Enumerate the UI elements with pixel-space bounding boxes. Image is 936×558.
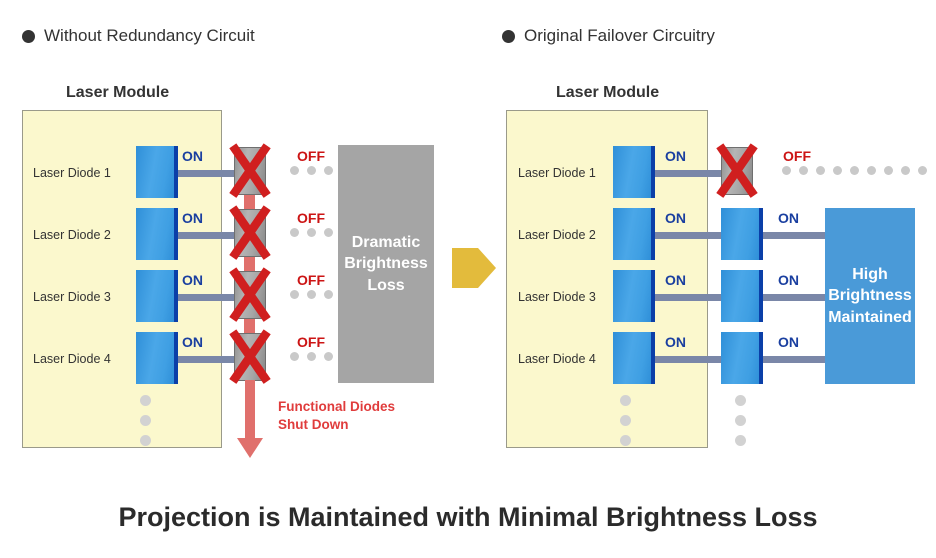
shutdown-down-arrow-icon xyxy=(237,380,263,458)
left-diode-box-4 xyxy=(136,332,178,384)
x-mark-icon xyxy=(229,142,271,199)
left-panel-heading: Without Redundancy Circuit xyxy=(22,26,255,46)
left-off-label-3: OFF xyxy=(297,272,325,288)
right-second-on-label-4: ON xyxy=(778,334,799,350)
right-diode-box-3 xyxy=(613,270,655,322)
left-off-label-1: OFF xyxy=(297,148,325,164)
left-on-label-2: ON xyxy=(182,210,203,226)
left-on-label-1: ON xyxy=(182,148,203,164)
right-second-on-label-2: ON xyxy=(778,210,799,226)
left-diode-label-2: Laser Diode 2 xyxy=(33,228,111,242)
right-failed-box-1 xyxy=(721,147,753,195)
x-mark-icon xyxy=(229,328,271,385)
right-secondary-box-2 xyxy=(721,208,763,260)
right-on-label-4: ON xyxy=(665,334,686,350)
left-failed-box-2 xyxy=(234,209,266,257)
dramatic-brightness-loss-text: Dramatic Brightness Loss xyxy=(344,232,428,297)
right-diode-label-2: Laser Diode 2 xyxy=(518,228,596,242)
transition-arrow-icon xyxy=(452,240,496,296)
right-panel-heading: Original Failover Circuitry xyxy=(502,26,715,46)
left-off-label-2: OFF xyxy=(297,210,325,226)
right-second-on-label-3: ON xyxy=(778,272,799,288)
left-on-label-4: ON xyxy=(182,334,203,350)
right-module-ellipsis xyxy=(620,395,631,446)
right-module-title: Laser Module xyxy=(556,84,659,102)
bullet-icon xyxy=(22,30,35,43)
left-module-ellipsis xyxy=(140,395,151,446)
diagram-canvas: Without Redundancy Circuit Laser Module … xyxy=(0,0,936,558)
bottom-caption: Projection is Maintained with Minimal Br… xyxy=(0,502,936,533)
left-failed-box-3 xyxy=(234,271,266,319)
right-secondary-box-4 xyxy=(721,332,763,384)
right-on-label-1: ON xyxy=(665,148,686,164)
right-diode-label-1: Laser Diode 1 xyxy=(518,166,596,180)
bullet-icon xyxy=(502,30,515,43)
right-diode-box-2 xyxy=(613,208,655,260)
left-module-title: Laser Module xyxy=(66,84,169,102)
right-diode-box-4 xyxy=(613,332,655,384)
left-diode-label-4: Laser Diode 4 xyxy=(33,352,111,366)
right-off-label-1: OFF xyxy=(783,148,811,164)
right-secondary-box-3 xyxy=(721,270,763,322)
left-arrow-note: Functional Diodes Shut Down xyxy=(278,398,395,434)
dramatic-brightness-loss-box: Dramatic Brightness Loss xyxy=(338,145,434,383)
left-diode-label-3: Laser Diode 3 xyxy=(33,290,111,304)
left-on-label-3: ON xyxy=(182,272,203,288)
left-heading-text: Without Redundancy Circuit xyxy=(44,26,255,46)
right-diode-label-3: Laser Diode 3 xyxy=(518,290,596,304)
x-mark-icon xyxy=(716,142,758,199)
high-brightness-maintained-text: High Brightness Maintained xyxy=(828,264,912,329)
left-off-label-4: OFF xyxy=(297,334,325,350)
left-failed-box-1 xyxy=(234,147,266,195)
x-mark-icon xyxy=(229,266,271,323)
x-mark-icon xyxy=(229,204,271,261)
right-diode-box-1 xyxy=(613,146,655,198)
left-diode-label-1: Laser Diode 1 xyxy=(33,166,111,180)
right-on-label-2: ON xyxy=(665,210,686,226)
right-dots-row-1 xyxy=(782,166,927,175)
right-heading-text: Original Failover Circuitry xyxy=(524,26,715,46)
left-diode-box-2 xyxy=(136,208,178,260)
right-diode-label-4: Laser Diode 4 xyxy=(518,352,596,366)
high-brightness-maintained-box: High Brightness Maintained xyxy=(825,208,915,384)
left-diode-box-1 xyxy=(136,146,178,198)
left-failed-box-4 xyxy=(234,333,266,381)
left-diode-box-3 xyxy=(136,270,178,322)
right-secondary-ellipsis xyxy=(735,395,746,446)
right-on-label-3: ON xyxy=(665,272,686,288)
